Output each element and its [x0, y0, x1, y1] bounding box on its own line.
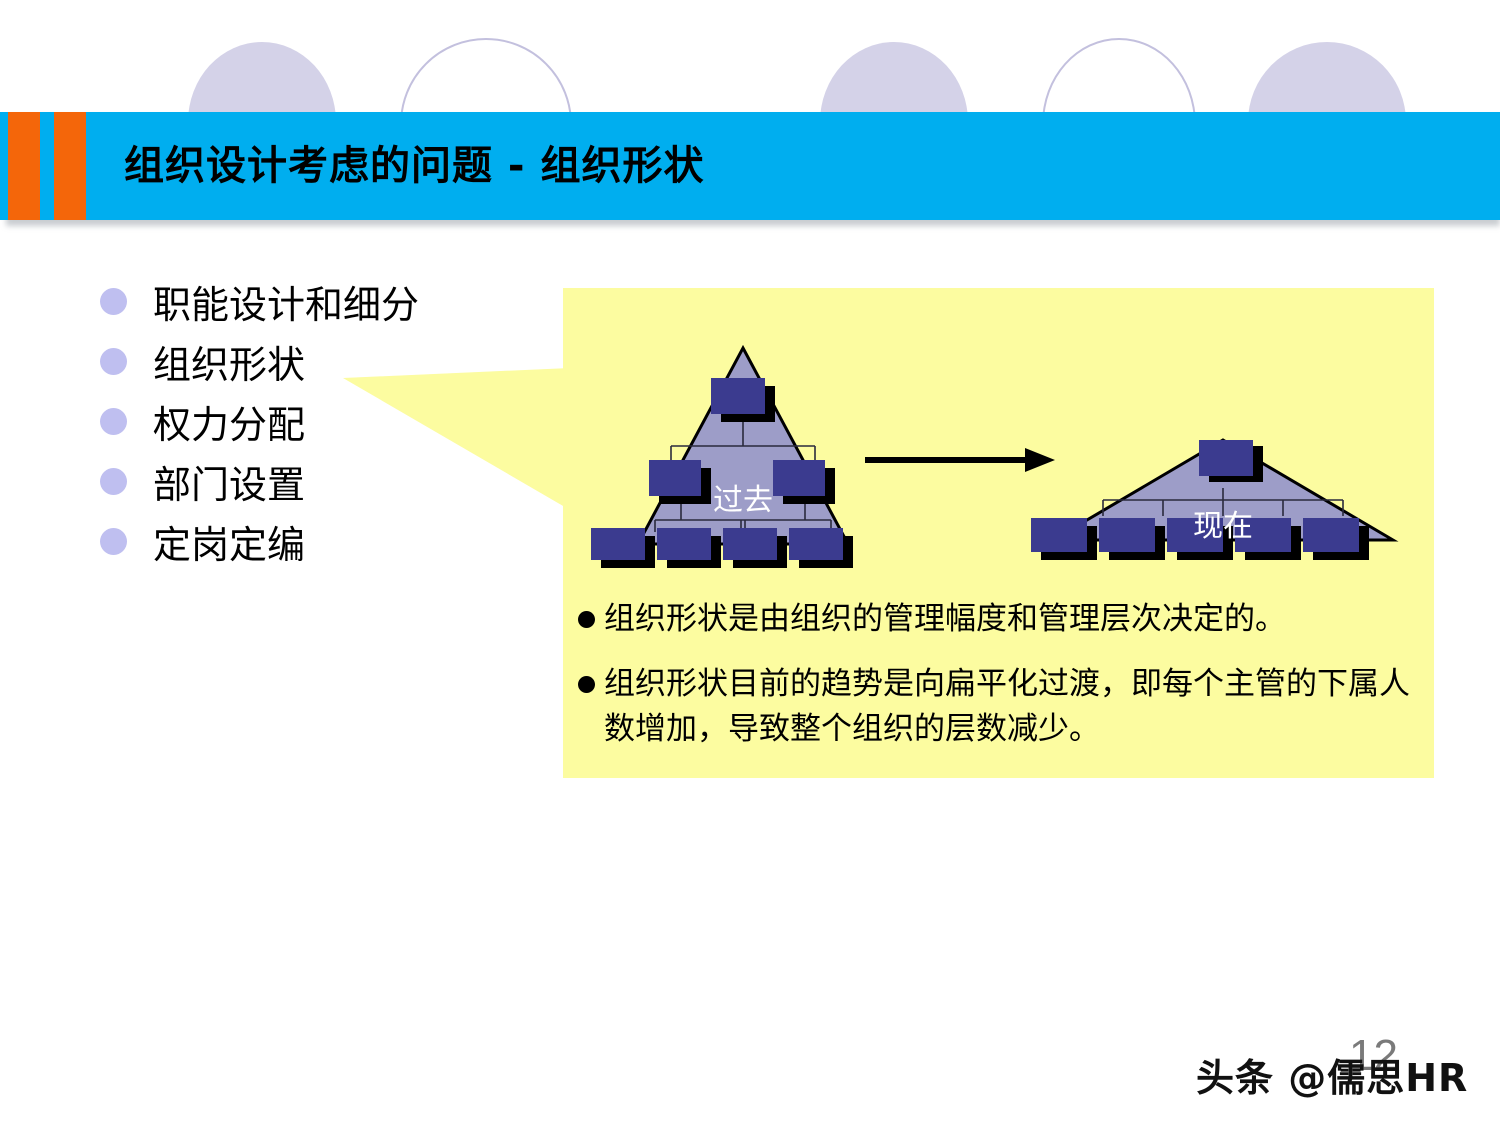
watermark: 头条 @儒思HR	[1196, 1047, 1468, 1102]
list-item-label: 定岗定编	[153, 514, 305, 569]
note-text: 组织形状目前的趋势是向扁平化过渡，即每个主管的下属人数增加，导致整个组织的层数减…	[604, 661, 1423, 751]
present-pyramid: 现在	[1031, 440, 1393, 560]
note-text: 组织形状是由组织的管理幅度和管理层次决定的。	[604, 596, 1286, 641]
decor-circle-filled-3	[1248, 42, 1406, 118]
note-item: 组织形状目前的趋势是向扁平化过渡，即每个主管的下属人数增加，导致整个组织的层数减…	[578, 661, 1423, 751]
accent-bar-left	[8, 112, 40, 220]
past-pyramid: 过去	[591, 348, 853, 568]
list-item-label: 部门设置	[153, 454, 305, 509]
list-item[interactable]: 职能设计和细分	[100, 272, 530, 330]
decor-circle-filled-2	[820, 42, 968, 118]
accent-bar-right	[54, 112, 86, 220]
note-bullet-icon	[578, 676, 595, 693]
bullet-dot-icon	[100, 528, 127, 555]
slide: 组织设计考虑的问题 - 组织形状 职能设计和细分 组织形状 权力分配 部门设置 …	[0, 0, 1500, 1125]
callout-notes: 组织形状是由组织的管理幅度和管理层次决定的。 组织形状目前的趋势是向扁平化过渡，…	[578, 596, 1423, 771]
list-item-label: 职能设计和细分	[153, 274, 419, 329]
note-item: 组织形状是由组织的管理幅度和管理层次决定的。	[578, 596, 1423, 641]
page-title: 组织设计考虑的问题 - 组织形状	[124, 128, 704, 204]
note-bullet-icon	[578, 611, 595, 628]
decor-circle-filled-1	[188, 42, 336, 118]
bullet-dot-icon	[100, 468, 127, 495]
past-label: 过去	[713, 484, 773, 517]
present-label: 现在	[1193, 510, 1253, 543]
list-item-label: 组织形状	[153, 334, 305, 389]
decorative-circle-band	[0, 0, 1500, 118]
list-item-label: 权力分配	[153, 394, 305, 449]
transition-arrow-icon	[865, 448, 1055, 472]
decor-circle-outline-1	[400, 38, 572, 118]
callout-tail	[330, 350, 570, 530]
bullet-dot-icon	[100, 288, 127, 315]
bullet-dot-icon	[100, 408, 127, 435]
bullet-dot-icon	[100, 348, 127, 375]
decor-circle-outline-2	[1042, 38, 1196, 118]
org-shape-diagram: 过去	[563, 288, 1434, 578]
